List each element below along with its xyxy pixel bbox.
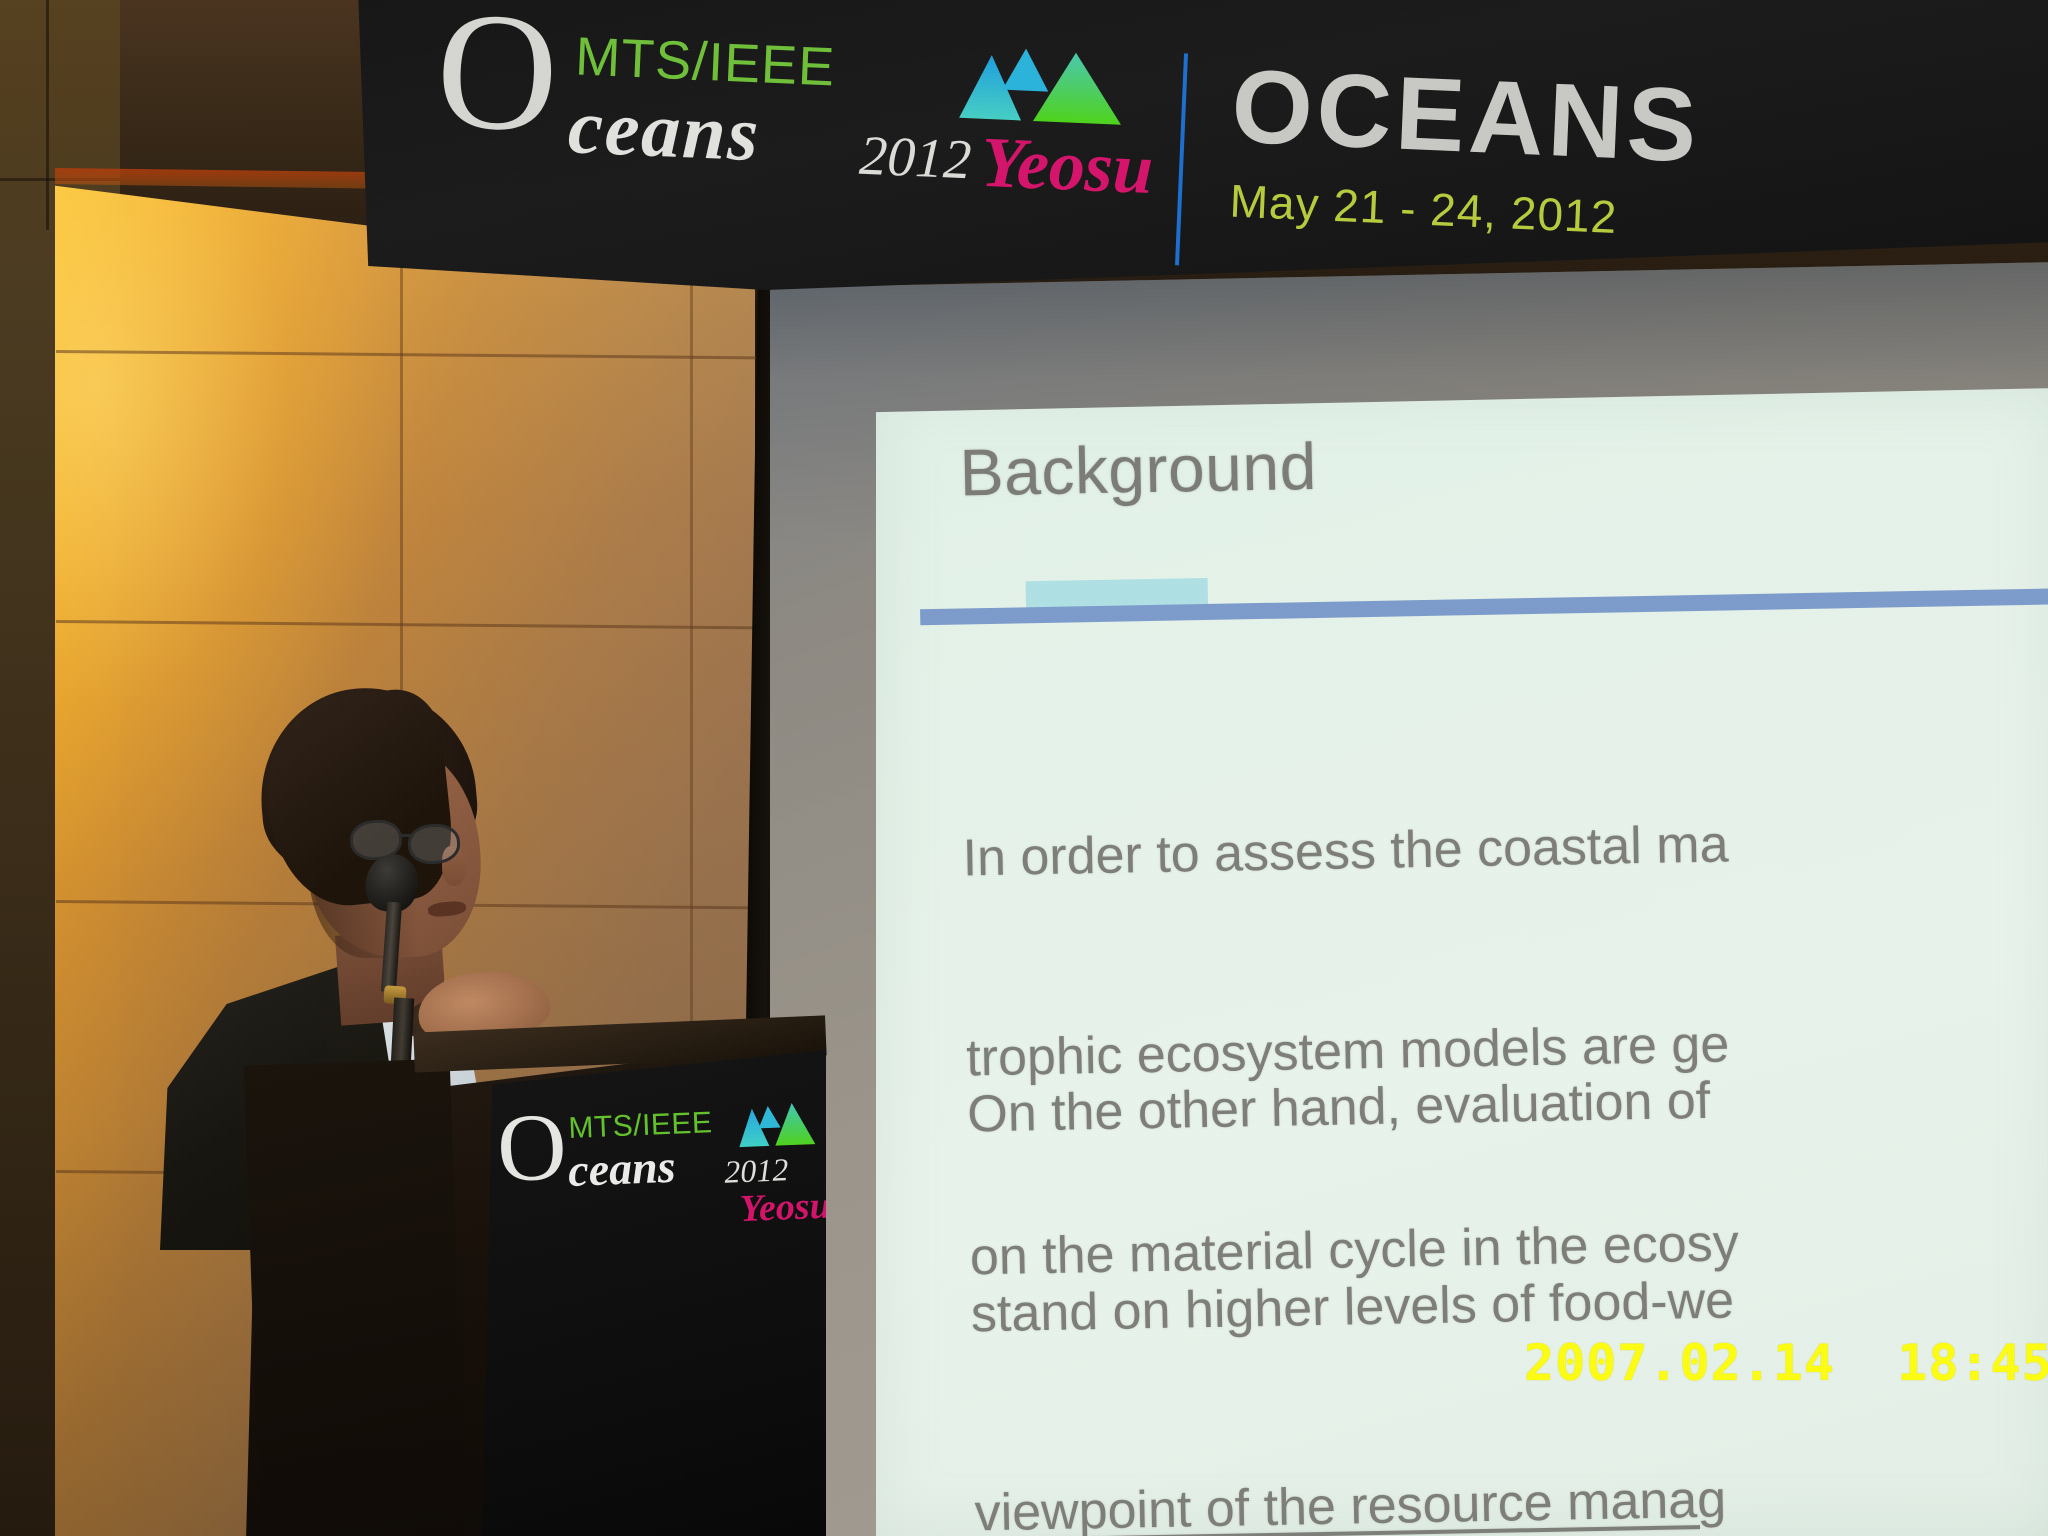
banner-logo-city: Yeosu <box>979 121 1154 211</box>
podium-logo-city: Yeosu <box>739 1184 826 1232</box>
podium-logo-o: O <box>495 1098 568 1197</box>
hair-front <box>258 685 459 913</box>
banner-logo-wordmark: ceans <box>566 81 762 179</box>
banner-divider <box>1175 53 1188 265</box>
banner-content: O MTS/IEEE ceans 2012 Yeosu OCEANS <box>358 0 2048 290</box>
banner-logo-o: O <box>433 0 561 159</box>
podium-oceans-logo: O MTS/IEEE ceans 2012 Yeosu <box>495 1087 826 1241</box>
photograph-scene: Background In order to assess the coasta… <box>0 0 2048 1536</box>
wall-seam-vertical <box>46 0 49 230</box>
slide-line: viewpoint of the resource manag <box>974 1467 1738 1536</box>
mountains-icon <box>727 1091 826 1151</box>
camera-timestamp: 2007.02.14 18:45 <box>1524 1334 2048 1392</box>
slide-line: In order to assess the coastal ma <box>962 812 1732 893</box>
lens-right <box>407 822 462 866</box>
podium-side-panel <box>244 1059 467 1536</box>
slide-line: On the other hand, evaluation of <box>967 1068 1731 1149</box>
podium-logo-wordmark: ceans <box>567 1140 676 1197</box>
banner-event-dates: May 21 - 24, 2012 <box>1229 173 1619 244</box>
glasses-bridge <box>400 834 412 837</box>
event-banner: O MTS/IEEE ceans 2012 Yeosu OCEANS <box>358 0 2048 290</box>
eyeglasses-icon <box>346 818 472 862</box>
podium-front-panel: O MTS/IEEE ceans 2012 Yeosu <box>482 1050 826 1536</box>
banner-event-name: OCEANS <box>1229 48 1703 187</box>
slide-line-underlined: viewpoint of the resource manag <box>974 1471 1726 1536</box>
slide-paragraph-2: On the other hand, evaluation of stand o… <box>964 934 1744 1536</box>
banner-logo-year: 2012 <box>858 124 973 193</box>
mountains-icon <box>945 31 1149 131</box>
slide-title: Background <box>959 428 1318 511</box>
podium-logo-society: MTS/IEEE <box>568 1106 713 1146</box>
